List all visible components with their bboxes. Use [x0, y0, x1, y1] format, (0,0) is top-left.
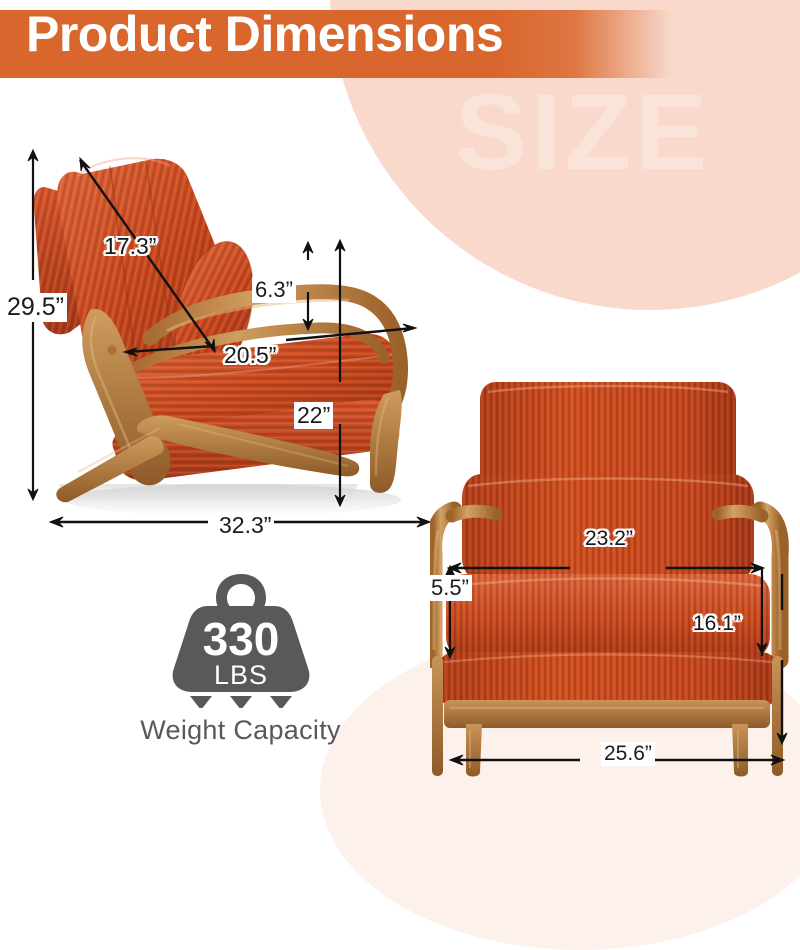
dimension-label-armrest-height: 22”	[294, 402, 333, 429]
dimension-label-seat-width: 23.2”	[585, 527, 633, 551]
dimension-label-overall-depth: 32.3”	[216, 512, 274, 539]
dimension-label-seat-height: 16.1”	[693, 612, 741, 636]
wood-front-apron	[444, 700, 770, 728]
seat-base-cushion	[438, 652, 778, 708]
dimension-label-cushion-height: 5.5”	[428, 575, 472, 601]
accent-chair-side-view-illustration	[18, 132, 448, 532]
pressure-arrows-icon	[190, 696, 292, 708]
dimension-label-seat-depth: 20.5”	[224, 342, 276, 369]
dimension-label-overall-height: 29.5”	[4, 293, 67, 322]
page-title: Product Dimensions	[26, 8, 503, 60]
floor-shadow-band	[58, 484, 358, 504]
weight-amount: 330	[202, 613, 279, 665]
dimension-label-overall-width: 25.6”	[601, 742, 655, 766]
weight-capacity-badge: 330 LBS	[126, 568, 356, 708]
weight-capacity-caption: Weight Capacity	[108, 715, 373, 746]
infographic-canvas: SIZE Product Dimensions	[0, 0, 800, 800]
dimension-label-armrest-clearance: 6.3”	[252, 277, 296, 303]
weight-capacity-block: 330 LBS Weight Capacity	[108, 568, 373, 746]
weight-unit: LBS	[213, 660, 267, 690]
accent-chair-front-view-illustration	[430, 360, 800, 780]
dimension-label-backrest-height: 17.3”	[104, 233, 156, 260]
